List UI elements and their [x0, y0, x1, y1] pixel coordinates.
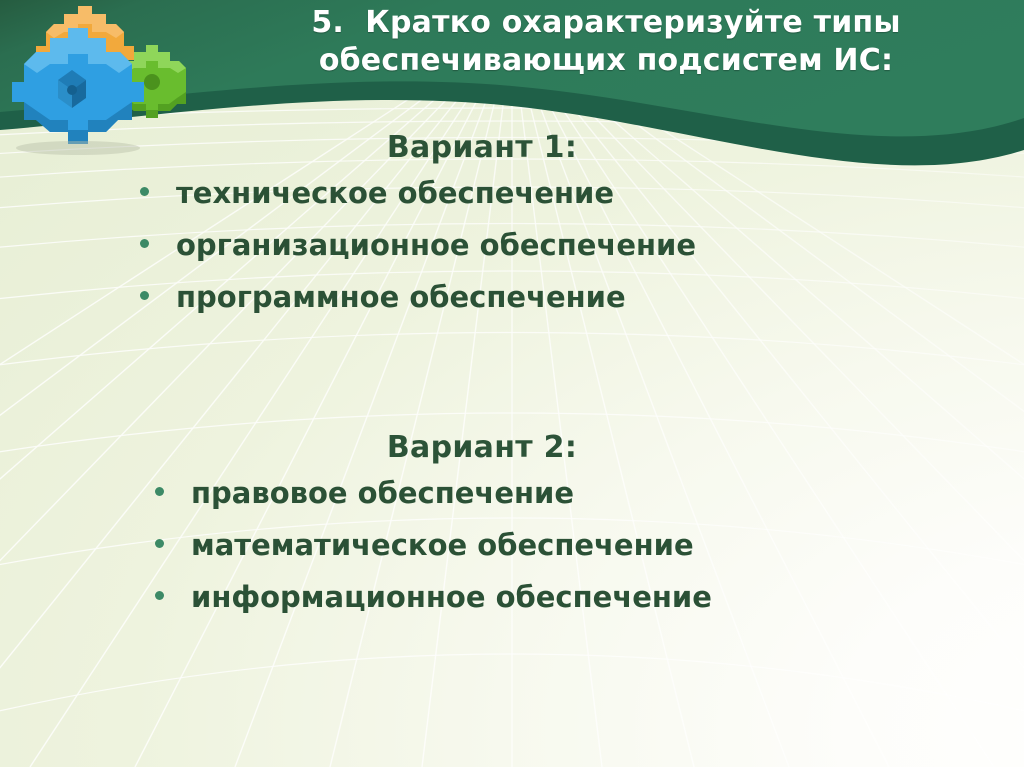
- list-item: программное обеспечение: [140, 283, 1024, 312]
- list-item-label: математическое обеспечение: [191, 531, 694, 560]
- bullet-dot-icon: [140, 187, 149, 196]
- bullet-list-variant-1: техническое обеспечение организационное …: [0, 179, 1024, 312]
- list-item-label: информационное обеспечение: [191, 583, 712, 612]
- list-item-label: правовое обеспечение: [191, 479, 574, 508]
- list-item: организационное обеспечение: [140, 231, 1024, 260]
- list-item-label: программное обеспечение: [176, 283, 626, 312]
- presentation-slide: 5. Кратко охарактеризуйте типы обеспечив…: [0, 0, 1024, 767]
- bullet-dot-icon: [155, 487, 164, 496]
- section-heading-variant-1: Вариант 1:: [0, 130, 1024, 165]
- bullet-list-variant-2: правовое обеспечение математическое обес…: [0, 479, 1024, 612]
- slide-content: Вариант 1: техническое обеспечение орган…: [0, 0, 1024, 767]
- list-item-label: техническое обеспечение: [176, 179, 614, 208]
- list-item: математическое обеспечение: [155, 531, 1024, 560]
- section-heading-variant-2: Вариант 2:: [0, 430, 1024, 465]
- list-item: информационное обеспечение: [155, 583, 1024, 612]
- list-item: правовое обеспечение: [155, 479, 1024, 508]
- bullet-dot-icon: [155, 591, 164, 600]
- section-variant-2: Вариант 2: правовое обеспечение математи…: [0, 430, 1024, 635]
- section-variant-1: Вариант 1: техническое обеспечение орган…: [0, 130, 1024, 335]
- list-item-label: организационное обеспечение: [176, 231, 696, 260]
- bullet-dot-icon: [140, 291, 149, 300]
- bullet-dot-icon: [140, 239, 149, 248]
- bullet-dot-icon: [155, 539, 164, 548]
- list-item: техническое обеспечение: [140, 179, 1024, 208]
